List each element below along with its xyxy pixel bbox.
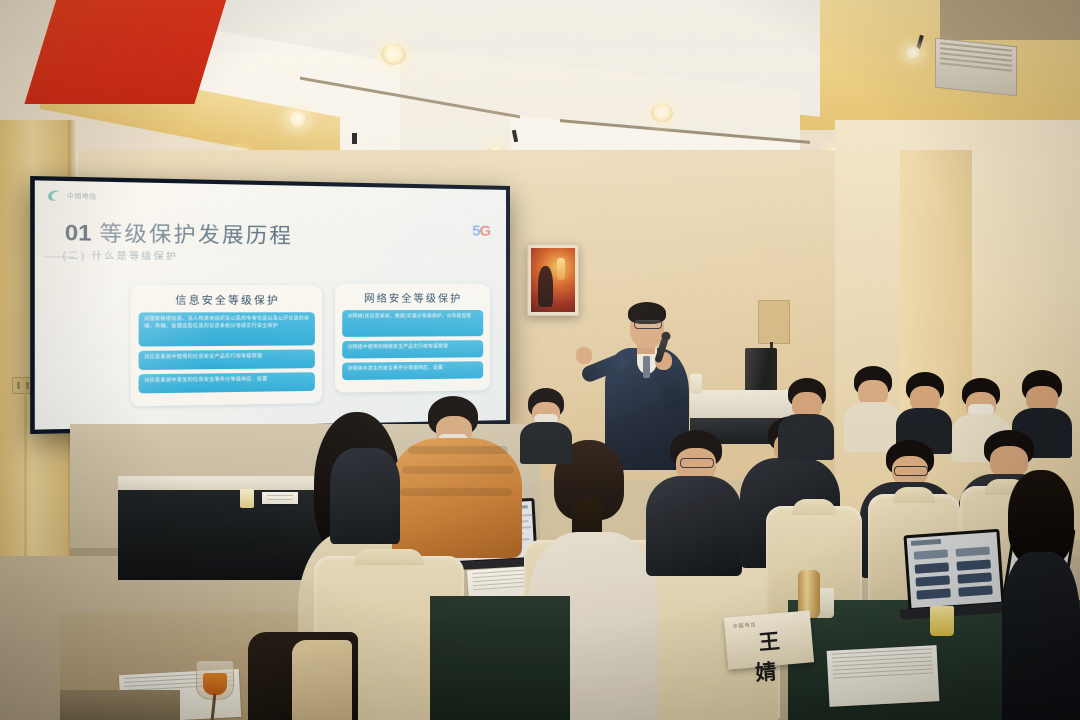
paper-cup: [690, 374, 702, 394]
attendee-back-1: [520, 388, 572, 458]
slide-brand: 中国电信: [45, 187, 97, 204]
card-bullet: 对信息系统中使用的信息安全产品实行按等级管理: [139, 349, 315, 370]
ceiling-spotlight: [905, 46, 921, 60]
slide-heading: 等级保护发展历程: [99, 216, 293, 249]
yellow-cup: [930, 606, 954, 636]
glasses-icon: [634, 320, 662, 329]
attendee-back-3: [844, 366, 902, 446]
slide-card-left: 信息安全等级保护 对国家秘密信息、法人和其他组织及公民的专有信息以及公开信息的存…: [131, 285, 323, 407]
card-bullet: 对网络(含信息系统、数据)实施分等级保护、分等级监管: [342, 310, 483, 337]
attendee-back-2: [778, 378, 834, 454]
tea-cup: [240, 489, 254, 508]
glasses-icon: [894, 466, 928, 476]
china-telecom-logo-icon: [45, 187, 62, 204]
red-banner: [24, 0, 228, 104]
card-title: 信息安全等级保护: [139, 291, 315, 307]
ceiling-downlight: [287, 111, 308, 128]
slide-title-row: 01 等级保护发展历程: [65, 215, 293, 248]
laptop-right-display: [907, 532, 1002, 608]
laptop-right[interactable]: [903, 529, 1004, 612]
paper-handout: [827, 645, 940, 707]
card-bullet: 对信息系统中发生的信息安全事件分等级响应、处置: [139, 372, 315, 393]
slide-card-right: 网络安全等级保护 对网络(含信息系统、数据)实施分等级保护、分等级监管 对网络中…: [335, 283, 490, 392]
attendee-back-4: [896, 372, 952, 448]
foreground-bag: [292, 640, 352, 720]
name-placard: 中国电信 王 婧: [724, 610, 814, 669]
puffer-jacket: [392, 438, 522, 558]
slide-subtitle: (二) 什么是等级保护: [63, 248, 179, 263]
attendee-dark-suit-left: [330, 432, 400, 542]
table-front-center: [430, 596, 570, 720]
framed-painting: [527, 244, 579, 316]
card-bullet: 对网络中使用的网络安全产品实行按等级管理: [342, 340, 483, 358]
ceiling-vent: [935, 38, 1017, 97]
five-g-watermark-icon: 5G: [472, 222, 490, 239]
presenter-left-hand: [576, 347, 592, 364]
glasses-icon: [680, 458, 714, 468]
brand-name: 中国电信: [67, 191, 97, 201]
card-title: 网络安全等级保护: [342, 290, 483, 305]
floor-shadow: [60, 690, 180, 720]
slide-number: 01: [65, 221, 92, 247]
attendee-front-right: [1002, 470, 1080, 720]
card-bullet: 对网络中发生的安全事件分等级响应、处置: [342, 361, 483, 380]
placard-name: 王 婧: [725, 622, 816, 689]
wall-sign: [758, 300, 790, 344]
conference-room-photo: 中国电信 01 等级保护发展历程 (二) 什么是等级保护 5G 信息安全等级保护…: [0, 0, 1080, 720]
paper-handout: [262, 492, 298, 504]
attendee-glasses-mid: [646, 430, 742, 570]
presentation-slide: 中国电信 01 等级保护发展历程 (二) 什么是等级保护 5G 信息安全等级保护…: [35, 180, 506, 429]
ceiling-downlight: [651, 104, 673, 122]
presenter-tie: [643, 356, 650, 378]
attendee-tan-jacket: [392, 404, 522, 554]
projection-screen: 中国电信 01 等级保护发展历程 (二) 什么是等级保护 5G 信息安全等级保护…: [30, 176, 510, 434]
card-bullet: 对国家秘密信息、法人和其他组织及公民的专有信息以及公开信息的存储、传输、处理这些…: [139, 312, 315, 346]
ceiling-downlight: [381, 44, 406, 65]
